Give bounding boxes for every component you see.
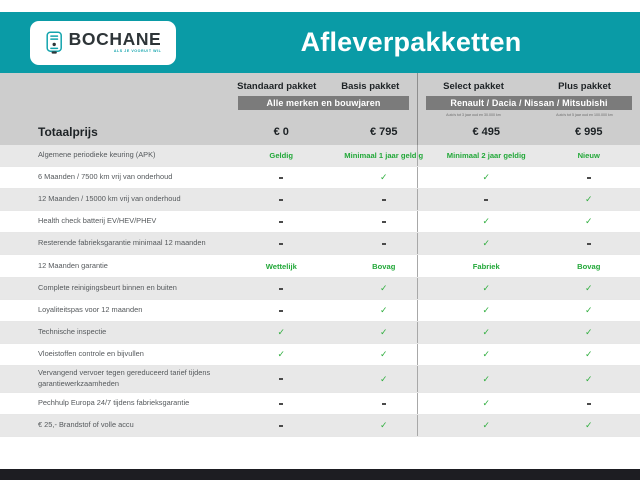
check-icon: ✓ <box>585 194 593 204</box>
feature-label: 12 Maanden / 15000 km vrij van onderhoud <box>0 194 230 205</box>
check-icon: ✓ <box>380 172 388 182</box>
check-icon: ✓ <box>585 374 593 384</box>
feature-value-standaard <box>230 399 333 408</box>
table-row: Technische inspectie✓✓✓✓ <box>0 322 640 344</box>
feature-label: Technische inspectie <box>0 327 230 338</box>
table-row: Health check batterij EV/HEV/PHEV✓✓ <box>0 211 640 233</box>
feature-value-select: Fabriek <box>435 262 538 271</box>
dash-icon <box>382 221 386 223</box>
table-row: Vloeistoffen controle en bijvullen✓✓✓✓ <box>0 344 640 366</box>
total-price-row: Totaalprijs € 0 € 795 € 495 € 995 <box>0 118 640 145</box>
feature-value-standaard <box>230 284 333 293</box>
check-icon: ✓ <box>585 327 593 337</box>
feature-label: Vloeistoffen controle en bijvullen <box>0 349 230 360</box>
check-icon: ✓ <box>482 238 490 248</box>
column-title-standaard: Standaard pakket <box>230 81 324 92</box>
dash-icon <box>382 243 386 245</box>
price-standaard: € 0 <box>230 126 333 138</box>
dash-icon <box>382 199 386 201</box>
check-icon: ✓ <box>585 305 593 315</box>
feature-value-basis: ✓ <box>333 283 436 294</box>
check-icon: ✓ <box>585 283 593 293</box>
check-icon: ✓ <box>482 374 490 384</box>
feature-value-basis <box>333 399 436 408</box>
feature-value-standaard <box>230 173 333 182</box>
check-icon: ✓ <box>482 420 490 430</box>
feature-value-plus: ✓ <box>538 374 640 385</box>
feature-value-plus: ✓ <box>538 216 640 227</box>
feature-value-basis: ✓ <box>333 374 436 385</box>
feature-value-basis: ✓ <box>333 172 436 183</box>
feature-label: Resterende fabrieksgarantie minimaal 12 … <box>0 238 230 249</box>
row-group-divider <box>417 167 418 188</box>
feature-label: 6 Maanden / 7500 km vrij van onderhoud <box>0 172 230 183</box>
check-icon: ✓ <box>482 172 490 182</box>
afleverpakketten-page: BOCHANE ALS JE VOORUIT WIL Afleverpakket… <box>0 0 640 480</box>
check-icon: ✓ <box>585 216 593 226</box>
check-icon: ✓ <box>482 327 490 337</box>
feature-value-plus: Bovag <box>538 262 640 271</box>
group-bar-right: Renault / Dacia / Nissan / Mitsubishi <box>426 96 632 110</box>
row-group-divider <box>417 189 418 210</box>
column-title-basis: Basis pakket <box>324 81 418 92</box>
feature-value-standaard <box>230 421 333 430</box>
feature-value-select: ✓ <box>435 420 538 431</box>
table-row: 12 Maanden / 15000 km vrij van onderhoud… <box>0 189 640 211</box>
column-title-plus: Plus pakket <box>529 81 640 92</box>
price-basis: € 795 <box>333 126 436 138</box>
row-group-divider <box>417 300 418 321</box>
check-icon: ✓ <box>277 327 285 337</box>
feature-value-plus: ✓ <box>538 327 640 338</box>
total-price-label: Totaalprijs <box>0 125 230 139</box>
row-group-divider <box>417 344 418 365</box>
feature-value-standaard <box>230 217 333 226</box>
feature-value-plus: Nieuw <box>538 151 640 160</box>
feature-value-plus: ✓ <box>538 305 640 316</box>
row-group-divider <box>417 366 418 392</box>
check-icon: ✓ <box>482 216 490 226</box>
check-icon: ✓ <box>482 305 490 315</box>
table-row: Vervangend vervoer tegen gereduceerd tar… <box>0 366 640 393</box>
row-group-divider <box>417 278 418 299</box>
feature-value-select: ✓ <box>435 374 538 385</box>
check-icon: ✓ <box>380 305 388 315</box>
price-select: € 495 <box>435 126 538 138</box>
brand-logo[interactable]: BOCHANE ALS JE VOORUIT WIL <box>30 21 176 65</box>
bochane-mark-icon <box>45 31 64 55</box>
feature-value-select: ✓ <box>435 305 538 316</box>
column-title-select: Select pakket <box>418 81 529 92</box>
feature-value-plus: ✓ <box>538 420 640 431</box>
dash-icon <box>279 177 283 179</box>
row-group-divider <box>417 393 418 414</box>
check-icon: ✓ <box>482 349 490 359</box>
feature-value-select: Minimaal 2 jaar geldig <box>435 151 538 160</box>
dash-icon <box>279 243 283 245</box>
check-icon: ✓ <box>482 283 490 293</box>
feature-value-standaard <box>230 195 333 204</box>
table-row: € 25,- Brandstof of volle accu✓✓✓ <box>0 415 640 437</box>
feature-label: Complete reinigingsbeurt binnen en buite… <box>0 283 230 294</box>
feature-value-basis <box>333 239 436 248</box>
dash-icon <box>382 403 386 405</box>
top-margin <box>0 0 640 12</box>
feature-value-plus <box>538 239 640 248</box>
feature-value-basis: ✓ <box>333 349 436 360</box>
feature-value-plus: ✓ <box>538 349 640 360</box>
dash-icon <box>279 425 283 427</box>
row-group-divider <box>417 211 418 232</box>
row-group-divider <box>417 145 418 166</box>
feature-value-select: ✓ <box>435 283 538 294</box>
feature-value-select: ✓ <box>435 216 538 227</box>
feature-comparison-table: Algemene periodieke keuring (APK)GeldigM… <box>0 145 640 437</box>
feature-value-select: ✓ <box>435 238 538 249</box>
dash-icon <box>279 378 283 380</box>
feature-value-basis <box>333 195 436 204</box>
feature-value-standaard: ✓ <box>230 349 333 360</box>
group-bar-left: Alle merken en bouwjaren <box>238 96 409 110</box>
feature-value-plus <box>538 173 640 182</box>
row-group-divider <box>417 415 418 436</box>
dash-icon <box>279 221 283 223</box>
page-header: BOCHANE ALS JE VOORUIT WIL Afleverpakket… <box>0 12 640 73</box>
brand-name: BOCHANE <box>69 31 162 49</box>
feature-label: Loyaliteitspas voor 12 maanden <box>0 305 230 316</box>
check-icon: ✓ <box>277 349 285 359</box>
feature-value-standaard: ✓ <box>230 327 333 338</box>
feature-value-basis: ✓ <box>333 327 436 338</box>
feature-label: Algemene periodieke keuring (APK) <box>0 150 230 161</box>
table-row: Complete reinigingsbeurt binnen en buite… <box>0 278 640 300</box>
feature-value-plus: ✓ <box>538 283 640 294</box>
dash-icon <box>484 199 488 201</box>
dash-icon <box>587 177 591 179</box>
feature-value-basis: ✓ <box>333 305 436 316</box>
dash-icon <box>587 243 591 245</box>
dash-icon <box>279 288 283 290</box>
row-group-divider <box>417 233 418 254</box>
feature-value-select: ✓ <box>435 349 538 360</box>
price-plus: € 995 <box>538 126 640 138</box>
feature-value-standaard <box>230 375 333 384</box>
feature-value-basis: Minimaal 1 jaar geldig <box>333 151 436 160</box>
feature-value-standaard: Wettelijk <box>230 262 333 271</box>
table-row: 12 Maanden garantieWettelijkBovagFabriek… <box>0 255 640 278</box>
bottom-bar <box>0 469 640 480</box>
check-icon: ✓ <box>380 327 388 337</box>
check-icon: ✓ <box>380 283 388 293</box>
page-title: Afleverpakketten <box>301 27 522 58</box>
check-icon: ✓ <box>585 420 593 430</box>
feature-value-basis: ✓ <box>333 420 436 431</box>
check-icon: ✓ <box>380 349 388 359</box>
feature-label: 12 Maanden garantie <box>0 261 230 272</box>
feature-value-basis <box>333 217 436 226</box>
dash-icon <box>587 403 591 405</box>
feature-value-select: ✓ <box>435 172 538 183</box>
feature-label: Pechhulp Europa 24/7 tijdens fabrieksgar… <box>0 398 230 409</box>
feature-label: € 25,- Brandstof of volle accu <box>0 420 230 431</box>
feature-value-standaard <box>230 306 333 315</box>
column-sub-plus: Auto's tot 5 jaar oud en 100.000 km <box>529 113 640 117</box>
check-icon: ✓ <box>585 349 593 359</box>
table-row: Loyaliteitspas voor 12 maanden✓✓✓ <box>0 300 640 322</box>
check-icon: ✓ <box>482 398 490 408</box>
dash-icon <box>279 403 283 405</box>
total-row-divider <box>417 73 418 145</box>
feature-value-select: ✓ <box>435 398 538 409</box>
feature-value-standaard: Geldig <box>230 151 333 160</box>
dash-icon <box>279 199 283 201</box>
feature-label: Vervangend vervoer tegen gereduceerd tar… <box>0 368 230 389</box>
table-row: Algemene periodieke keuring (APK)GeldigM… <box>0 145 640 167</box>
feature-value-plus <box>538 399 640 408</box>
table-row: 6 Maanden / 7500 km vrij van onderhoud✓✓ <box>0 167 640 189</box>
table-row: Resterende fabrieksgarantie minimaal 12 … <box>0 233 640 255</box>
feature-value-basis: Bovag <box>333 262 436 271</box>
feature-value-select <box>435 195 538 204</box>
table-row: Pechhulp Europa 24/7 tijdens fabrieksgar… <box>0 393 640 415</box>
check-icon: ✓ <box>380 420 388 430</box>
row-group-divider <box>417 322 418 343</box>
dash-icon <box>279 310 283 312</box>
feature-label: Health check batterij EV/HEV/PHEV <box>0 216 230 227</box>
feature-value-select: ✓ <box>435 327 538 338</box>
feature-value-plus: ✓ <box>538 194 640 205</box>
feature-value-standaard <box>230 239 333 248</box>
brand-tagline: ALS JE VOORUIT WIL <box>114 50 161 54</box>
column-sub-select: Auto's tot 3 jaar oud en 30.000 km <box>418 113 529 117</box>
row-group-divider <box>417 255 418 277</box>
check-icon: ✓ <box>380 374 388 384</box>
